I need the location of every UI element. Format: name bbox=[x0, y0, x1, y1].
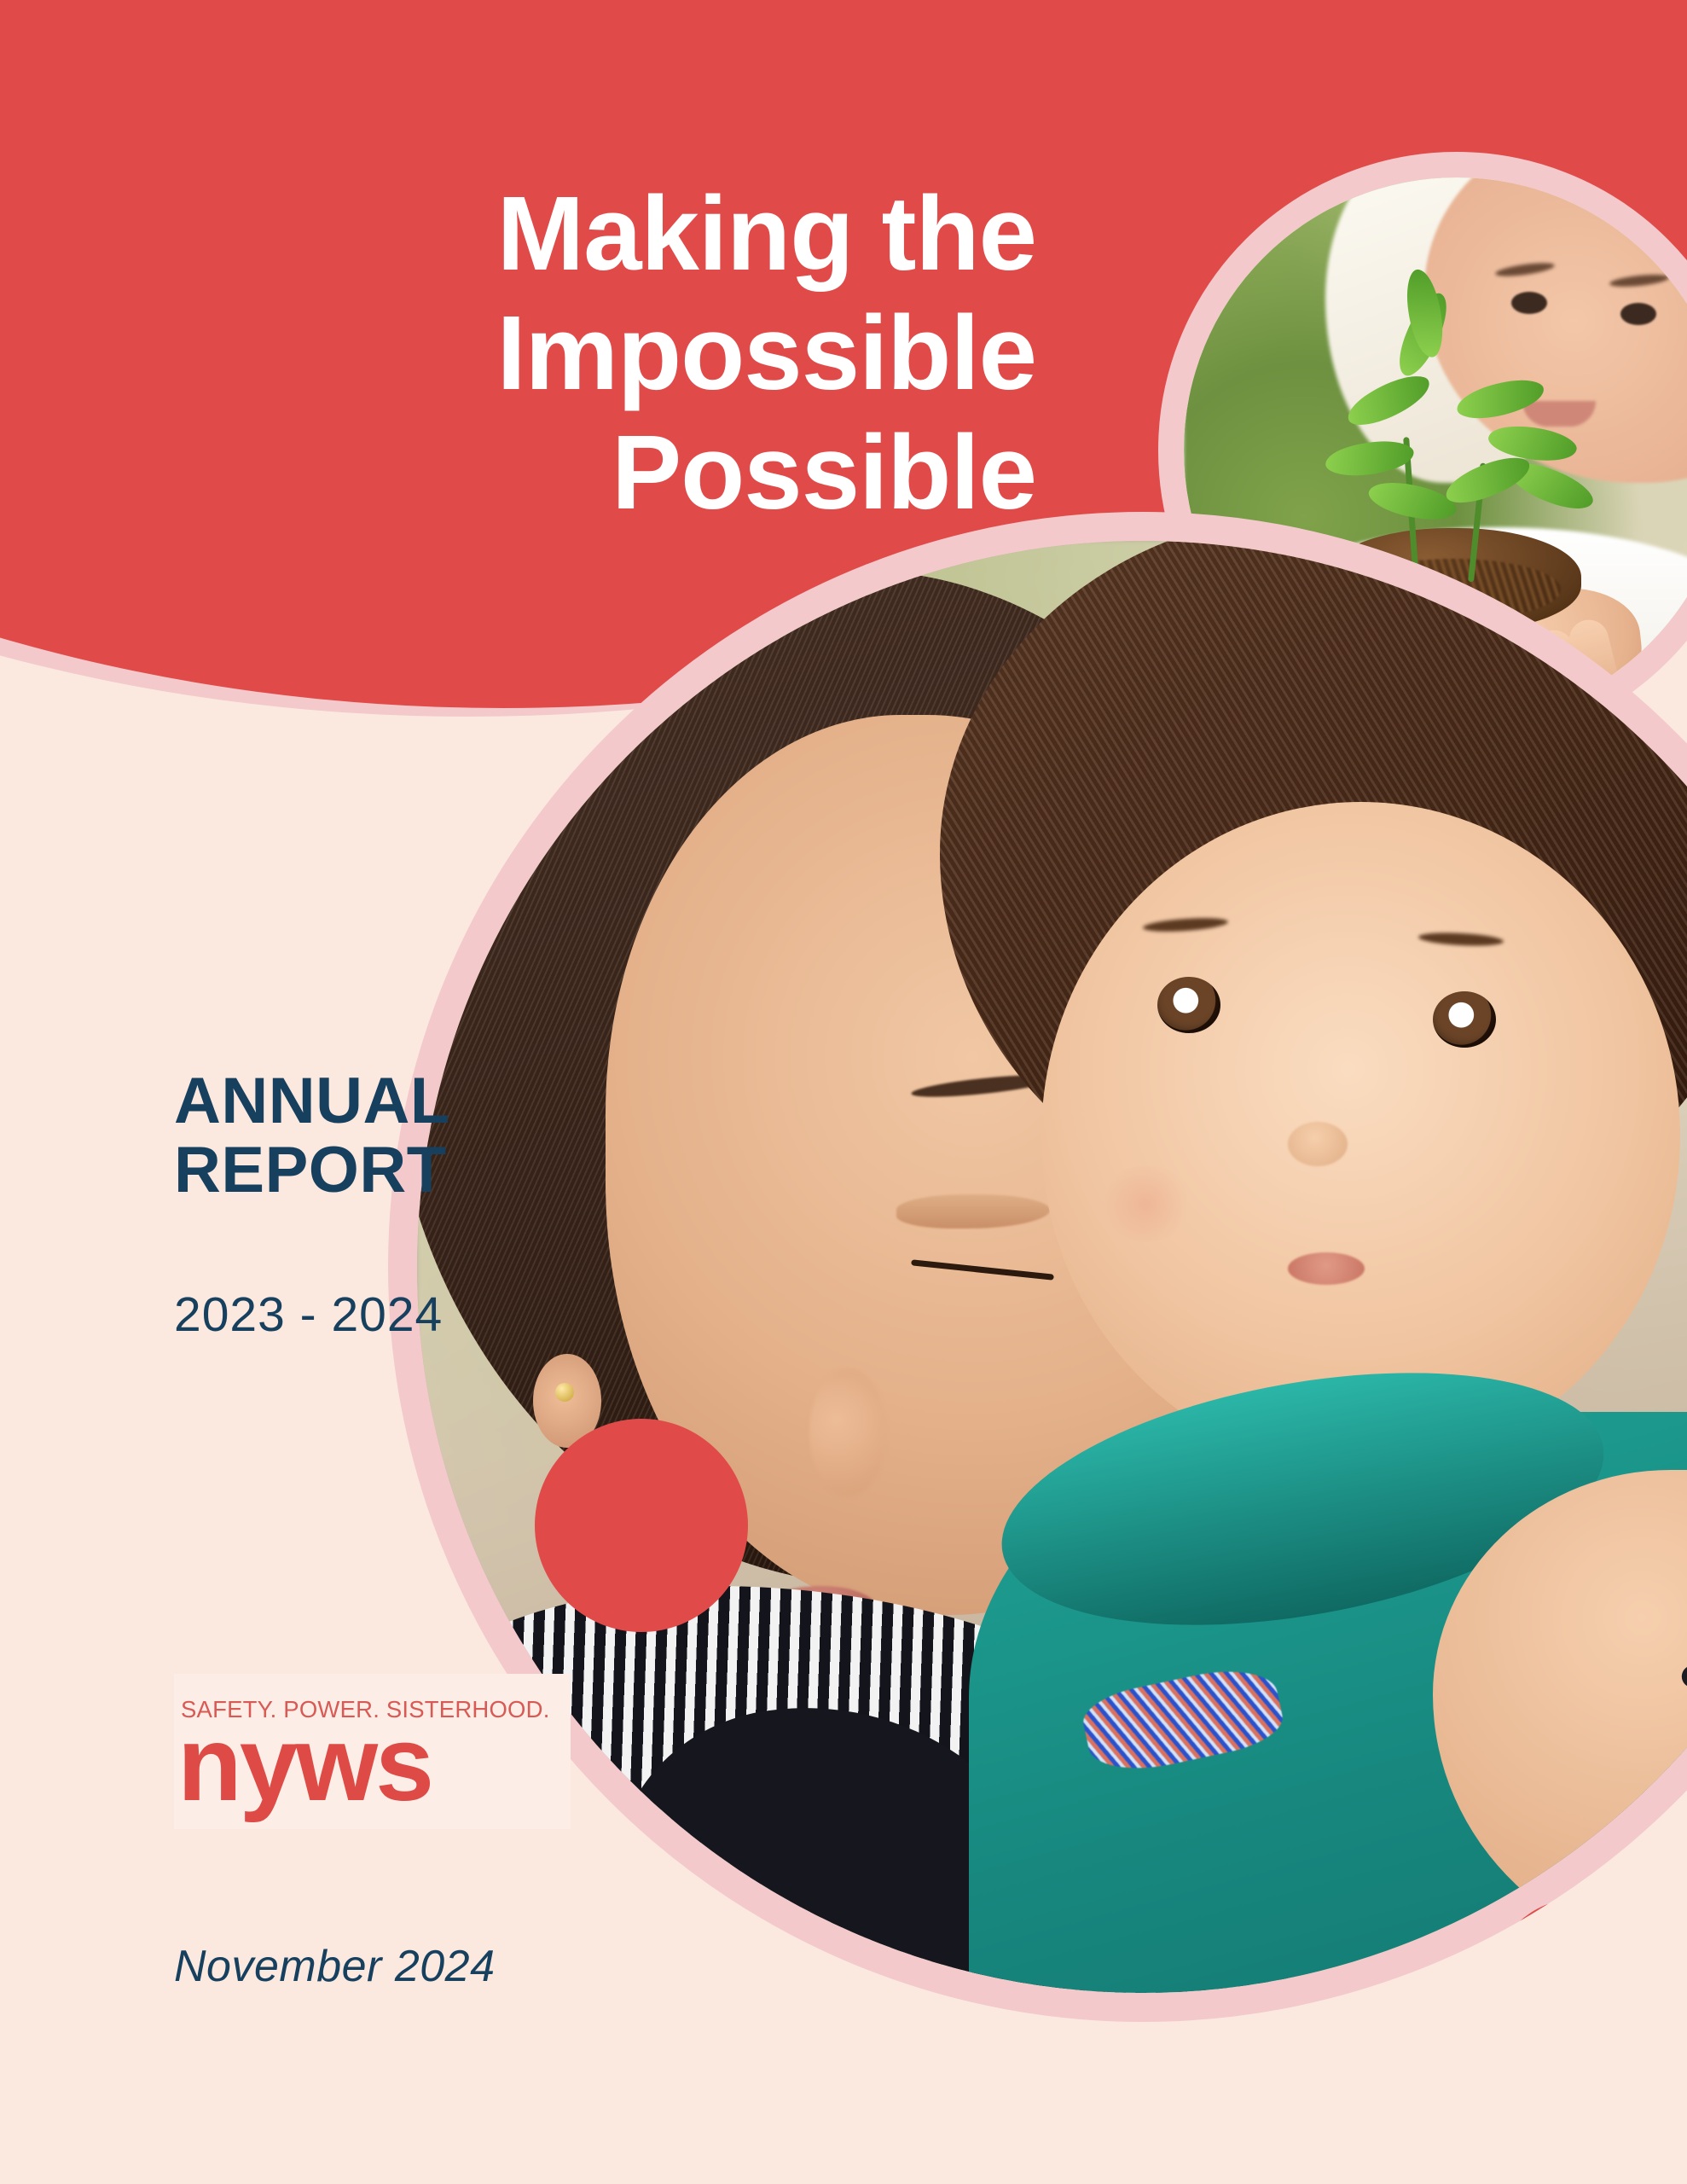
baby-lips bbox=[1288, 1252, 1365, 1285]
red-accent-dot-left bbox=[535, 1419, 748, 1632]
baby-nose bbox=[1288, 1122, 1348, 1166]
report-title: ANNUAL REPORT bbox=[174, 1066, 450, 1205]
mother-nose bbox=[809, 1368, 886, 1496]
baby-eye-right bbox=[1433, 991, 1496, 1048]
baby-eye-left bbox=[1157, 977, 1220, 1033]
cover-title: Making the Impossible Possible bbox=[154, 175, 1036, 534]
publication-date: November 2024 bbox=[174, 1941, 496, 1992]
logo-wordmark: nyws bbox=[177, 1711, 432, 1817]
nyws-logo: SAFETY. POWER. SISTERHOOD. nyws bbox=[174, 1674, 571, 1829]
baby-face bbox=[1041, 802, 1680, 1470]
mother-baby-photo-inner bbox=[417, 541, 1687, 1993]
baby-cheek bbox=[1099, 1165, 1193, 1242]
annual-report-cover-page: Making the Impossible Possible bbox=[0, 0, 1687, 2184]
mother-earring bbox=[555, 1383, 574, 1402]
child-eye-right bbox=[1620, 303, 1656, 325]
mother-and-baby-photo bbox=[388, 512, 1687, 2022]
report-years: 2023 - 2024 bbox=[174, 1287, 443, 1343]
